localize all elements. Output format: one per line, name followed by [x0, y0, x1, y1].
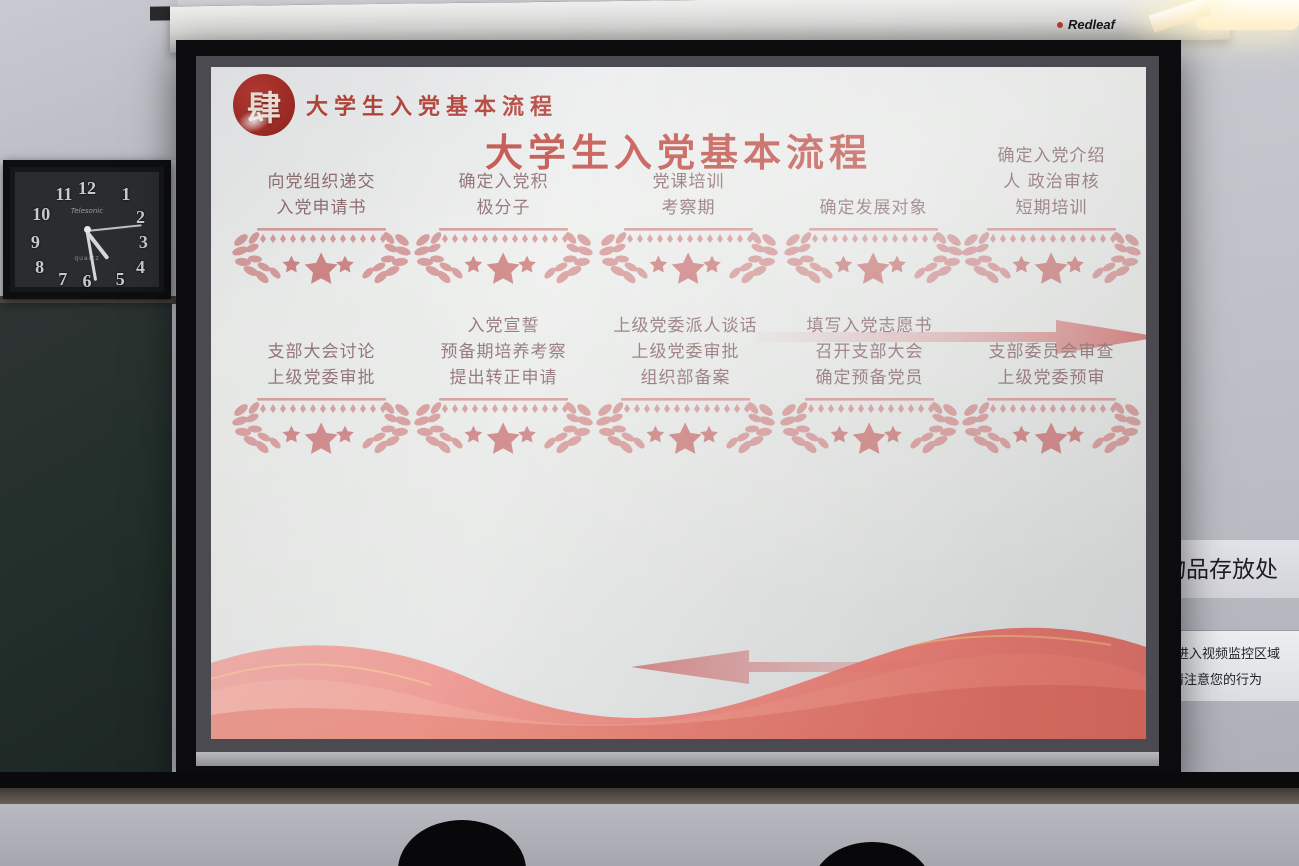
flow-node-line: 上级党委审批: [229, 365, 414, 391]
flow-node-line: 支部大会讨论: [229, 339, 414, 365]
flow-node-line: 确定发展对象: [781, 195, 966, 221]
laurel-wreath-icon: [781, 222, 966, 284]
wall-clock: Telesonic quartz 12 1 2 3 4 5 6 7 8 9 10…: [3, 160, 171, 299]
flow-node-line: 入党申请书: [229, 195, 414, 221]
flow-node-step-10: 支部大会讨论 上级党委审批: [229, 339, 414, 454]
flow-node-line: 入党宣誓: [411, 313, 596, 339]
flow-node-step-6: 支部委员会审查 上级党委预审: [959, 339, 1144, 454]
flow-node-step-7: 填写入党志愿书 召开支部大会 确定预备党员: [777, 313, 962, 454]
flow-node-step-5: 确定入党介绍 人 政治审核 短期培训: [959, 143, 1144, 284]
flow-node-line: 考察期: [596, 195, 781, 221]
clock-number-8: 8: [35, 257, 44, 278]
clock-number-10: 10: [32, 204, 50, 225]
flow-node-line: 组织部备案: [593, 365, 778, 391]
clock-number-5: 5: [116, 269, 125, 290]
presentation-slide: 肆 大学生入党基本流程 大学生入党基本流程: [211, 67, 1146, 739]
flow-node-line: 上级党委预审: [959, 365, 1144, 391]
brand-dot-icon: [1057, 22, 1063, 28]
screen-bottom-strip: [196, 752, 1159, 766]
flow-node-step-3: 党课培训 考察期: [596, 169, 781, 284]
clock-number-7: 7: [58, 269, 67, 290]
projection-screen-frame: 肆 大学生入党基本流程 大学生入党基本流程: [176, 40, 1181, 782]
classroom-photo: Redleaf Telesonic quartz 12 1 2 3 4 5 6 …: [0, 0, 1299, 866]
clock-number-3: 3: [139, 232, 148, 253]
laurel-wreath-icon: [229, 392, 414, 454]
flow-node-line: 上级党委派人谈话: [593, 313, 778, 339]
projection-screen-surface: 肆 大学生入党基本流程 大学生入党基本流程: [196, 56, 1159, 764]
projector-brand-label: Redleaf: [1068, 17, 1115, 32]
slide-header-title: 大学生入党基本流程: [306, 89, 558, 121]
flow-node-line: 预备期培养考察: [411, 339, 596, 365]
flow-node-line: 确定入党积: [411, 169, 596, 195]
flow-node-line: 填写入党志愿书: [777, 313, 962, 339]
laurel-wreath-icon: [959, 222, 1144, 284]
clock-brand-label: Telesonic: [71, 207, 103, 215]
flow-node-step-1: 向党组织递交 入党申请书: [229, 169, 414, 284]
clock-number-1: 1: [122, 184, 131, 205]
clock-center-pin: [84, 226, 91, 233]
laurel-wreath-icon: [411, 392, 596, 454]
flow-node-line: 提出转正申请: [411, 365, 596, 391]
front-desk-edge: [0, 788, 1299, 804]
flow-node-line: 确定入党介绍: [959, 143, 1144, 169]
clock-number-9: 9: [31, 232, 40, 253]
flow-node-step-4: 确定发展对象: [781, 195, 966, 284]
flow-node-line: 党课培训: [596, 169, 781, 195]
wall-upper-left: [0, 0, 178, 160]
clock-second-hand: [87, 224, 142, 232]
clock-number-11: 11: [55, 184, 72, 205]
clock-number-6: 6: [83, 271, 92, 292]
flow-node-line: 人 政治审核: [959, 169, 1144, 195]
blackboard: [0, 300, 172, 823]
front-desk-shadow: [0, 772, 1299, 788]
laurel-wreath-icon: [229, 222, 414, 284]
laurel-wreath-icon: [959, 392, 1144, 454]
flow-node-step-8: 上级党委派人谈话 上级党委审批 组织部备案: [593, 313, 778, 454]
laurel-wreath-icon: [777, 392, 962, 454]
flow-node-line: 上级党委审批: [593, 339, 778, 365]
laurel-wreath-icon: [411, 222, 596, 284]
flow-node-line: 召开支部大会: [777, 339, 962, 365]
flow-node-step-2: 确定入党积 极分子: [411, 169, 596, 284]
flow-node-line: 支部委员会审查: [959, 339, 1144, 365]
flow-node-line: 向党组织递交: [229, 169, 414, 195]
flow-node-step-9: 入党宣誓 预备期培养考察 提出转正申请: [411, 313, 596, 454]
flow-node-line: 确定预备党员: [777, 365, 962, 391]
flow-node-line: 极分子: [411, 195, 596, 221]
surveillance-notice-line2: 请注意您的行为: [1171, 669, 1262, 688]
clock-face: Telesonic quartz 12 1 2 3 4 5 6 7 8 9 10…: [15, 172, 159, 287]
clock-number-12: 12: [78, 178, 96, 199]
ceiling-light: [1196, 0, 1299, 30]
slide-wave-decoration: [211, 619, 1146, 739]
laurel-wreath-icon: [593, 392, 778, 454]
front-desk-surface: [0, 804, 1299, 866]
laurel-wreath-icon: [596, 222, 781, 284]
clock-number-4: 4: [136, 257, 145, 278]
flow-node-line: 短期培训: [959, 195, 1144, 221]
clock-quartz-label: quartz: [74, 255, 99, 262]
